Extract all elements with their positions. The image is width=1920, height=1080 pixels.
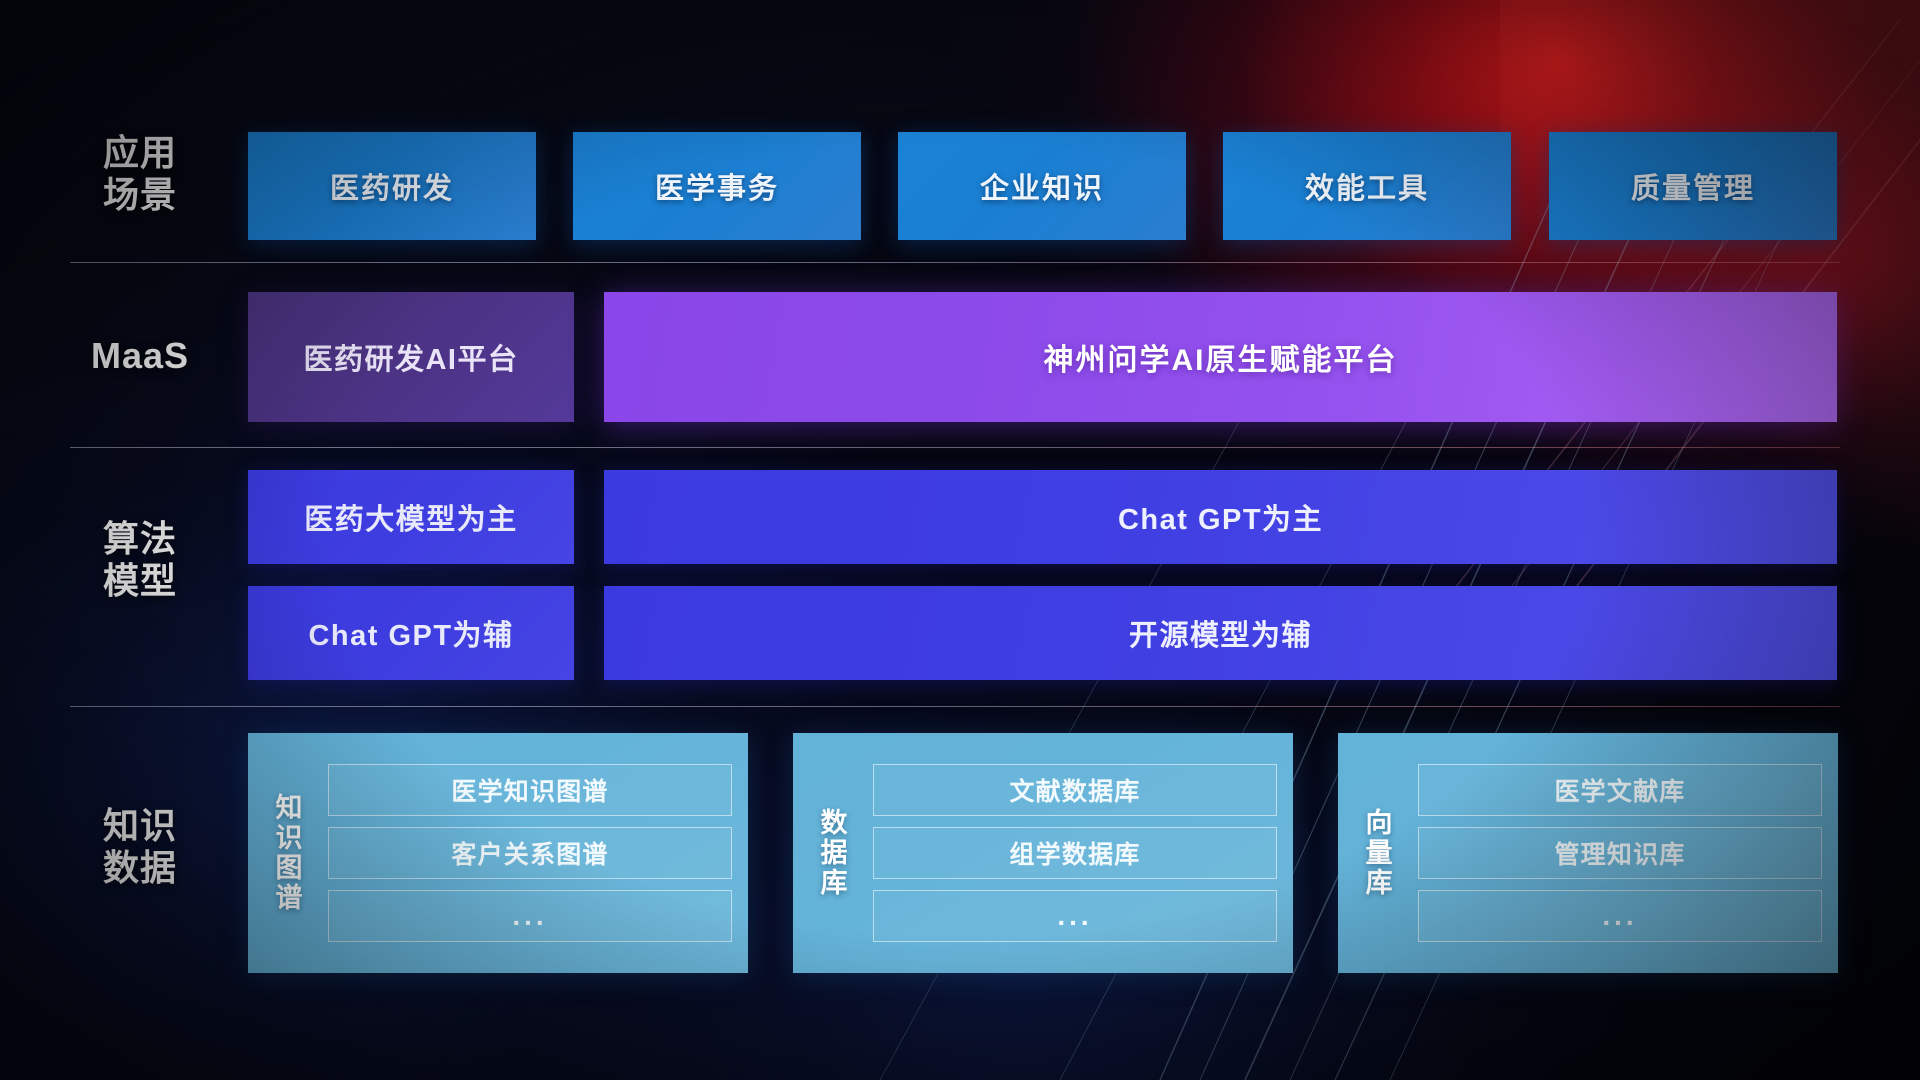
vertical-label-stack: 向量库 [1366,808,1393,899]
vertical-label-char: 图 [276,853,303,883]
knowledge-item-label: 管理知识库 [1554,835,1685,871]
vertical-label-char: 知 [276,793,303,823]
vertical-label-stack: 数据库 [821,808,848,899]
knowledge-item-label: 医学知识图谱 [451,772,608,808]
knowledge-item-label: ... [1057,900,1092,932]
algo-box-opensource-model-secondary[interactable]: 开源模型为辅 [604,586,1837,680]
knowledge-item-medical-graph[interactable]: 医学知识图谱 [328,764,732,816]
app-scenario-box-medical-affairs[interactable]: 医学事务 [573,132,861,240]
app-scenario-box-quality-management[interactable]: 质量管理 [1549,132,1837,240]
knowledge-panel-vector-store[interactable]: 向量库 医学文献库 管理知识库 ... [1338,733,1838,973]
tier-label-line: 应用 [70,132,210,174]
tier-label-application: 应用 场景 [70,132,210,217]
knowledge-item-label: 客户关系图谱 [451,835,608,871]
knowledge-item-customer-graph[interactable]: 客户关系图谱 [328,827,732,879]
vertical-label-char: 识 [276,823,303,853]
knowledge-panel-database[interactable]: 数据库 文献数据库 组学数据库 ... [793,733,1293,973]
maas-label: 医药研发AI平台 [303,336,518,378]
tier-label-algorithm: 算法 模型 [70,518,210,603]
tier-label-line: 场景 [70,174,210,216]
app-scenario-label: 企业知识 [980,165,1104,207]
tier-label-line: 知识 [70,805,210,847]
knowledge-item-label: ... [1602,900,1637,932]
algo-box-chatgpt-primary[interactable]: Chat GPT为主 [604,470,1837,564]
app-scenario-box-efficiency-tools[interactable]: 效能工具 [1223,132,1511,240]
divider-line-1 [70,262,1840,263]
vertical-label-char: 数 [821,808,848,838]
knowledge-item-more[interactable]: ... [1418,890,1822,942]
algo-label: Chat GPT为辅 [308,612,513,654]
knowledge-item-more[interactable]: ... [328,890,732,942]
divider-line-3 [70,706,1840,707]
algo-label: Chat GPT为主 [1118,496,1323,538]
maas-box-medicine-ai-platform[interactable]: 医药研发AI平台 [248,292,574,422]
maas-box-shenzhou-wenxue-platform[interactable]: 神州问学AI原生赋能平台 [604,292,1837,422]
knowledge-item-medical-literature[interactable]: 医学文献库 [1418,764,1822,816]
knowledge-item-label: 医学文献库 [1554,772,1685,808]
maas-label: 神州问学AI原生赋能平台 [1044,335,1398,379]
knowledge-item-more[interactable]: ... [873,890,1277,942]
knowledge-panel-vertical-label: 向量库 [1348,808,1410,899]
app-scenario-label: 质量管理 [1631,165,1755,207]
algo-box-chatgpt-secondary[interactable]: Chat GPT为辅 [248,586,574,680]
slide-canvas: 应用 场景 医药研发 医学事务 企业知识 效能工具 质量管理 MaaS 医药研发… [0,0,1920,1080]
knowledge-item-list: 文献数据库 组学数据库 ... [865,764,1277,942]
app-scenario-box-medicine-rd[interactable]: 医药研发 [248,132,536,240]
app-scenario-label: 效能工具 [1305,165,1429,207]
app-scenario-label: 医学事务 [655,165,779,207]
tier-label-line: 模型 [70,560,210,602]
knowledge-item-label: 组学数据库 [1009,835,1140,871]
vertical-label-char: 库 [821,868,848,898]
knowledge-item-management-knowledge[interactable]: 管理知识库 [1418,827,1822,879]
vertical-label-char: 库 [1366,868,1393,898]
algo-box-medicine-large-model-primary[interactable]: 医药大模型为主 [248,470,574,564]
knowledge-item-omics-db[interactable]: 组学数据库 [873,827,1277,879]
tier-label-line: 数据 [70,847,210,889]
tier-label-line: 算法 [70,518,210,560]
app-scenario-label: 医药研发 [330,165,454,207]
vertical-label-char: 谱 [276,883,303,913]
vertical-label-char: 据 [821,838,848,868]
knowledge-item-label: ... [512,900,547,932]
tier-label-knowledge: 知识 数据 [70,805,210,890]
knowledge-item-label: 文献数据库 [1009,772,1140,808]
knowledge-panel-vertical-label: 数据库 [803,808,865,899]
knowledge-item-list: 医学文献库 管理知识库 ... [1410,764,1822,942]
vertical-label-char: 向 [1366,808,1393,838]
knowledge-item-literature-db[interactable]: 文献数据库 [873,764,1277,816]
algo-label: 医药大模型为主 [304,496,518,538]
knowledge-panel-graph[interactable]: 知识图谱 医学知识图谱 客户关系图谱 ... [248,733,748,973]
knowledge-panel-vertical-label: 知识图谱 [258,793,320,914]
vertical-label-char: 量 [1366,838,1393,868]
vertical-label-stack: 知识图谱 [276,793,303,914]
knowledge-item-list: 医学知识图谱 客户关系图谱 ... [320,764,732,942]
tier-label-maas: MaaS [70,335,210,377]
architecture-diagram: 应用 场景 医药研发 医学事务 企业知识 效能工具 质量管理 MaaS 医药研发… [0,0,1920,1080]
divider-line-2 [70,447,1840,448]
tier-label-line: MaaS [70,335,210,377]
algo-label: 开源模型为辅 [1129,612,1312,654]
app-scenario-box-enterprise-knowledge[interactable]: 企业知识 [898,132,1186,240]
